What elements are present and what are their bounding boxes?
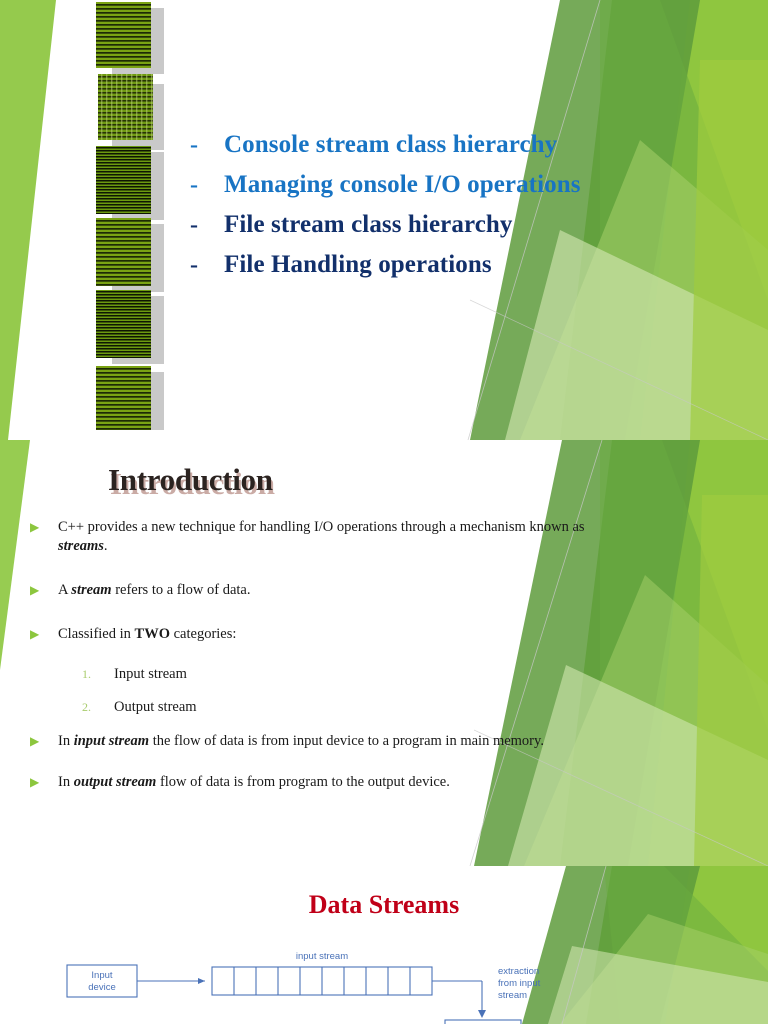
diagram-svg: Input device input stream extraction fro…	[45, 948, 565, 1024]
dash-marker: -	[190, 126, 224, 164]
data-stream-diagram: Input device input stream extraction fro…	[45, 948, 565, 1024]
introduction-body: ▶ C++ provides a new technique for handl…	[30, 518, 630, 817]
extraction-label-2: from input	[498, 978, 541, 989]
extraction-label-1: extraction	[498, 966, 539, 977]
triangle-bullet-icon: ▶	[30, 773, 58, 792]
photo-filmstrip	[96, 0, 164, 432]
input-device-label-2: device	[88, 982, 115, 993]
numbered-item: 1. Input stream	[82, 666, 630, 683]
slide-deck-page: - Console stream class hierarchy - Manag…	[0, 0, 768, 1024]
input-device-label-1: Input	[91, 970, 112, 981]
list-number: 2.	[82, 700, 114, 715]
extraction-label-3: stream	[498, 990, 527, 1001]
bullet-item: ▶ A stream refers to a flow of data.	[30, 581, 630, 600]
triangle-bullet-icon: ▶	[30, 625, 58, 644]
page-title-data-streams: Data Streams	[0, 890, 768, 920]
topic-label: Console stream class hierarchy	[224, 126, 557, 164]
input-stream-label: input stream	[296, 951, 348, 962]
bullet-text: C++ provides a new technique for handlin…	[58, 518, 630, 556]
dash-marker: -	[190, 246, 224, 284]
topic-item-3[interactable]: - File Handling operations	[190, 246, 620, 284]
topic-label: File stream class hierarchy	[224, 206, 513, 244]
bullet-text: In output stream flow of data is from pr…	[58, 773, 450, 792]
bullet-text: A stream refers to a flow of data.	[58, 581, 250, 600]
list-item-label: Output stream	[114, 699, 197, 716]
topic-list: - Console stream class hierarchy - Manag…	[190, 126, 620, 286]
bullet-text: Classified in TWO categories:	[58, 625, 236, 644]
bullet-item: ▶ C++ provides a new technique for handl…	[30, 518, 630, 556]
triangle-bullet-icon: ▶	[30, 732, 58, 751]
topic-item-0[interactable]: - Console stream class hierarchy	[190, 126, 620, 164]
triangle-bullet-icon: ▶	[30, 581, 58, 600]
bullet-item: ▶ In output stream flow of data is from …	[30, 773, 630, 792]
topics-slide: - Console stream class hierarchy - Manag…	[0, 0, 768, 440]
page-title-introduction: Introduction	[108, 462, 273, 498]
dash-marker: -	[190, 166, 224, 204]
dash-marker: -	[190, 206, 224, 244]
numbered-item: 2. Output stream	[82, 699, 630, 716]
topic-item-1[interactable]: - Managing console I/O operations	[190, 166, 620, 204]
bullet-item: ▶ In input stream the flow of data is fr…	[30, 732, 630, 751]
bullet-text: In input stream the flow of data is from…	[58, 732, 544, 751]
bullet-item: ▶ Classified in TWO categories:	[30, 625, 630, 644]
topic-label: Managing console I/O operations	[224, 166, 581, 204]
topic-label: File Handling operations	[224, 246, 492, 284]
list-number: 1.	[82, 667, 114, 682]
list-item-label: Input stream	[114, 666, 187, 683]
triangle-bullet-icon: ▶	[30, 518, 58, 537]
topic-item-2[interactable]: - File stream class hierarchy	[190, 206, 620, 244]
filmstrip-svg	[96, 0, 164, 432]
